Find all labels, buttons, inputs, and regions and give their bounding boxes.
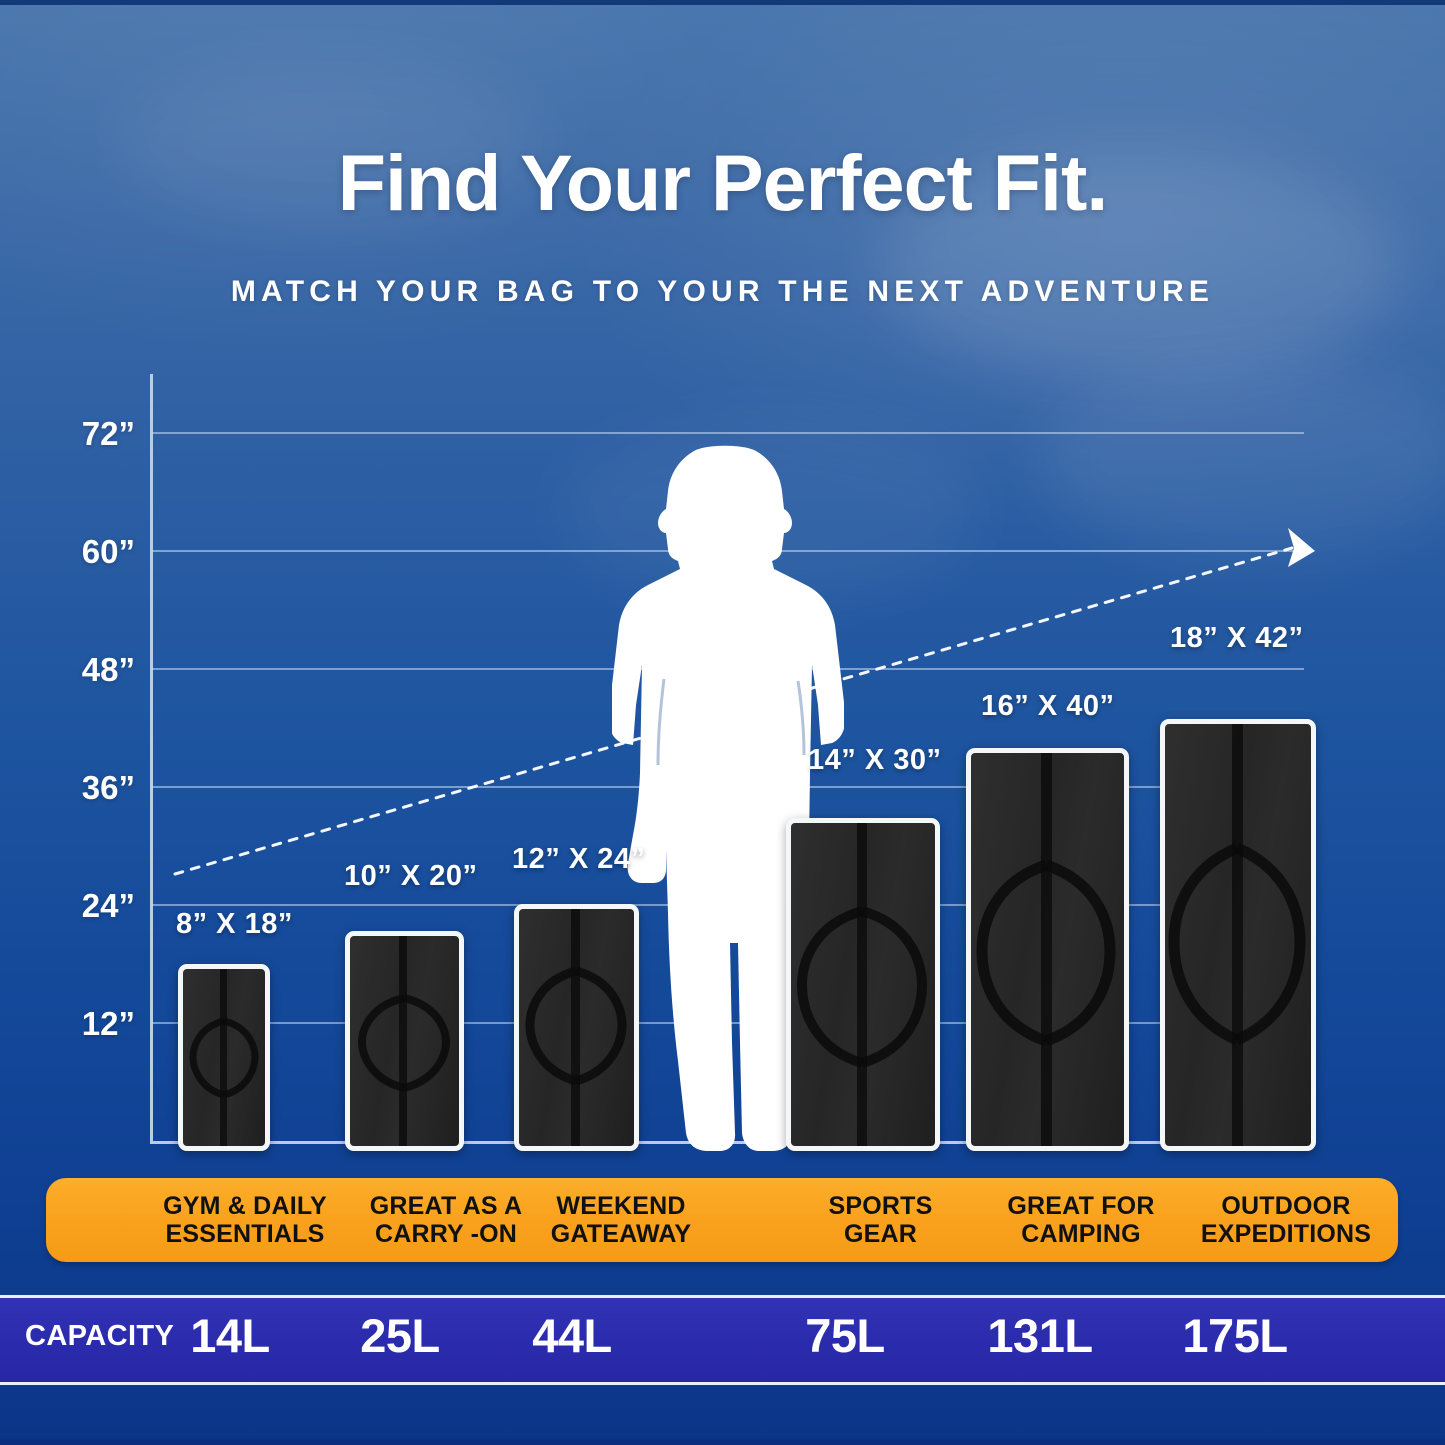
use-case-line-2: GATEAWAY bbox=[551, 1220, 692, 1249]
bag-size-label-5: 16” X 40” bbox=[981, 690, 1114, 723]
use-case-line-1: SPORTS bbox=[829, 1192, 933, 1221]
infographic-canvas: Find Your Perfect Fit. MATCH YOUR BAG TO… bbox=[0, 0, 1445, 1445]
bag-handle-icon bbox=[183, 969, 265, 1146]
use-case-line-1: GYM & DAILY bbox=[163, 1192, 327, 1221]
capacity-value-3: 44L bbox=[487, 1308, 657, 1363]
y-tick-label-60: 60” bbox=[45, 533, 135, 571]
capacity-value-2: 25L bbox=[315, 1308, 485, 1363]
bag-6[interactable] bbox=[1160, 719, 1306, 1141]
y-tick-label-12: 12” bbox=[45, 1005, 135, 1043]
bag-4[interactable] bbox=[786, 818, 930, 1141]
bag-size-label-4: 14” X 30” bbox=[808, 744, 941, 777]
bag-size-label-6: 18” X 42” bbox=[1170, 622, 1303, 655]
capacity-value-6: 175L bbox=[1140, 1308, 1330, 1363]
y-tick-label-72: 72” bbox=[45, 415, 135, 453]
gridline-72 bbox=[152, 432, 1304, 434]
use-case-cell-3[interactable]: WEEKEND GATEAWAY bbox=[501, 1178, 741, 1262]
use-case-cell-4[interactable]: SPORTS GEAR bbox=[773, 1178, 988, 1262]
bottom-edge-strip bbox=[0, 1439, 1445, 1445]
bag-size-label-3: 12” X 24” bbox=[512, 843, 645, 876]
use-case-pill-bar: GYM & DAILY ESSENTIALS GREAT AS A CARRY … bbox=[46, 1178, 1398, 1262]
y-tick-label-48: 48” bbox=[45, 651, 135, 689]
bag-handle-icon bbox=[350, 936, 459, 1146]
use-case-line-2: GEAR bbox=[844, 1220, 917, 1249]
use-case-line-1: GREAT AS A bbox=[370, 1192, 522, 1221]
use-case-line-2: CARRY -ON bbox=[375, 1220, 517, 1249]
bag-body bbox=[1160, 719, 1316, 1151]
capacity-value-4: 75L bbox=[760, 1308, 930, 1363]
use-case-line-1: GREAT FOR bbox=[1007, 1192, 1154, 1221]
bag-1[interactable] bbox=[178, 964, 260, 1141]
bag-handle-icon bbox=[791, 823, 935, 1146]
use-case-line-1: WEEKEND bbox=[556, 1192, 685, 1221]
bag-5[interactable] bbox=[966, 748, 1119, 1141]
y-tick-label-24: 24” bbox=[45, 887, 135, 925]
capacity-value-5: 131L bbox=[945, 1308, 1135, 1363]
y-tick-label-36: 36” bbox=[45, 769, 135, 807]
y-axis-line bbox=[150, 374, 153, 1144]
bag-size-label-1: 8” X 18” bbox=[176, 908, 293, 941]
use-case-line-2: EXPEDITIONS bbox=[1201, 1220, 1371, 1249]
bag-2[interactable] bbox=[345, 931, 454, 1141]
use-case-cell-6[interactable]: OUTDOOR EXPEDITIONS bbox=[1156, 1178, 1416, 1262]
bag-handle-icon bbox=[1165, 724, 1311, 1146]
use-case-line-1: OUTDOOR bbox=[1221, 1192, 1350, 1221]
bag-body bbox=[966, 748, 1129, 1151]
bag-handle-icon bbox=[519, 909, 634, 1146]
bag-body bbox=[345, 931, 464, 1151]
capacity-value-1: 14L bbox=[145, 1308, 315, 1363]
bag-body bbox=[178, 964, 270, 1151]
bag-body bbox=[514, 904, 639, 1151]
use-case-line-2: ESSENTIALS bbox=[166, 1220, 325, 1249]
bag-body bbox=[786, 818, 940, 1151]
bag-handle-icon bbox=[971, 753, 1124, 1146]
bag-3[interactable] bbox=[514, 904, 629, 1141]
use-case-line-2: CAMPING bbox=[1021, 1220, 1140, 1249]
bag-size-label-2: 10” X 20” bbox=[344, 860, 477, 893]
